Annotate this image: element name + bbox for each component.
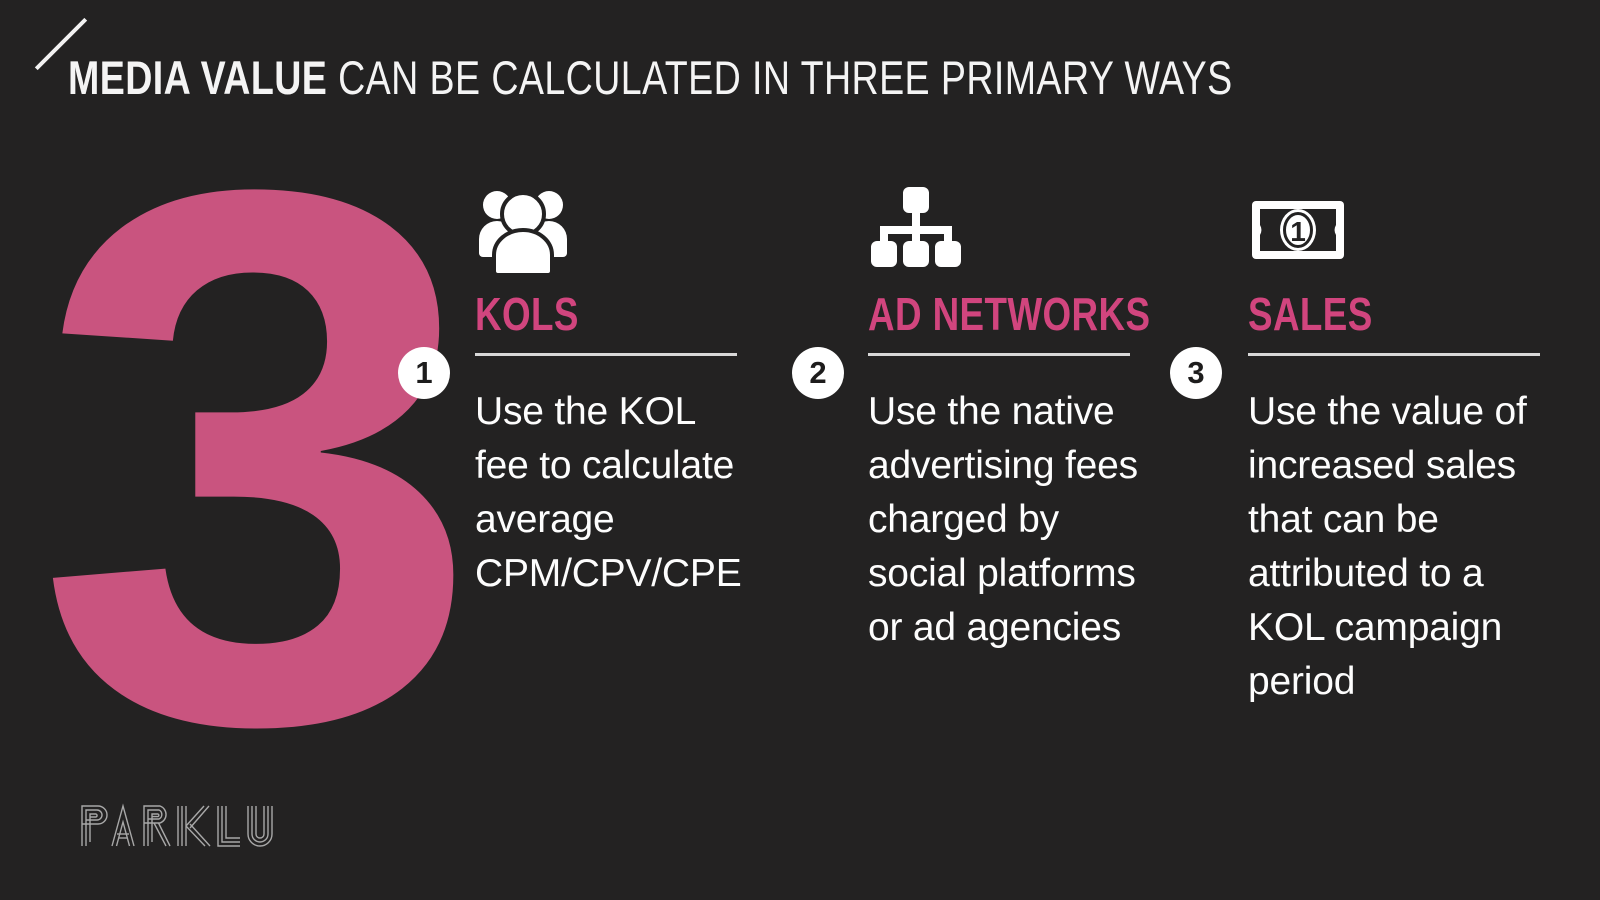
- org-chart-hierarchy-icon: [868, 170, 1168, 275]
- column-rule: [475, 353, 737, 356]
- column-body-kols: Use the KOL fee to calculate average CPM…: [475, 385, 743, 601]
- step-badge-2: 2: [792, 347, 844, 399]
- column-rule: [868, 353, 1130, 356]
- column-title-sales: SALES: [1248, 291, 1484, 337]
- parklu-logo: [78, 802, 288, 848]
- column-body-ad-networks: Use the native advertising fees charged …: [868, 385, 1153, 655]
- column-title-ad-networks: AD NETWORKS: [868, 291, 1108, 337]
- big-number-three: 3: [34, 108, 373, 808]
- column-kols: KOLS Use the KOL fee to calculate averag…: [475, 170, 775, 601]
- column-ad-networks: AD NETWORKS Use the native advertising f…: [868, 170, 1168, 655]
- users-group-icon: [475, 170, 775, 275]
- column-body-sales: Use the value of increased sales that ca…: [1248, 385, 1548, 709]
- slide-canvas: MEDIA VALUE CAN BE CALCULATED IN THREE P…: [0, 0, 1600, 900]
- column-title-kols: KOLS: [475, 291, 715, 337]
- column-rule: [1248, 353, 1540, 356]
- column-sales: 1 SALES Use the value of increased sales…: [1248, 170, 1543, 709]
- banknote-money-icon: 1: [1248, 170, 1543, 275]
- svg-text:1: 1: [1290, 216, 1306, 247]
- step-badge-3: 3: [1170, 347, 1222, 399]
- step-badge-1: 1: [398, 347, 450, 399]
